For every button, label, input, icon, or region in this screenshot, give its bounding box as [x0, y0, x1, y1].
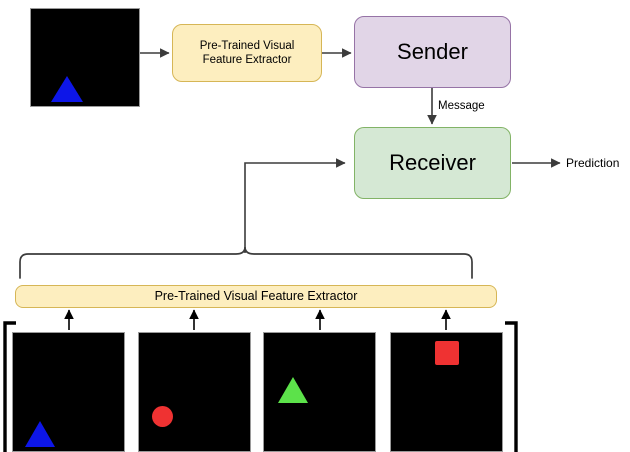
- curly-brace: [20, 247, 472, 278]
- extractor-label-line-1: Pre-Trained Visual: [200, 40, 295, 52]
- candidate-1-triangle: [25, 421, 55, 447]
- candidate-2-circle: [152, 406, 173, 427]
- sender-label: Sender: [397, 39, 468, 66]
- edge-candidates-to-receiver: [245, 163, 345, 253]
- target-image-tile[interactable]: [30, 8, 140, 107]
- message-edge-label: Message: [438, 100, 485, 112]
- candidate-image-2-tile[interactable]: [138, 332, 251, 452]
- sender-feature-extractor-label: Pre-Trained Visual Feature Extractor: [200, 39, 295, 67]
- right-bracket-icon: [505, 323, 516, 452]
- receiver-feature-extractor-label: Pre-Trained Visual Feature Extractor: [155, 289, 358, 304]
- target-image-triangle: [51, 76, 83, 102]
- candidate-image-1-tile[interactable]: [12, 332, 125, 452]
- candidate-image-3-tile[interactable]: [263, 332, 376, 452]
- receiver-box[interactable]: Receiver: [354, 127, 511, 199]
- sender-feature-extractor-box[interactable]: Pre-Trained Visual Feature Extractor: [172, 24, 322, 82]
- receiver-label: Receiver: [389, 150, 476, 177]
- candidate-3-triangle: [278, 377, 308, 403]
- receiver-feature-extractor-bar[interactable]: Pre-Trained Visual Feature Extractor: [15, 285, 497, 308]
- extractor-label-line-2: Feature Extractor: [203, 54, 292, 66]
- prediction-label-text: Prediction: [566, 156, 619, 170]
- candidate-4-square: [435, 341, 459, 365]
- sender-box[interactable]: Sender: [354, 16, 511, 88]
- message-label-text: Message: [438, 100, 485, 112]
- candidate-image-4-tile[interactable]: [390, 332, 503, 452]
- prediction-label: Prediction: [566, 156, 619, 170]
- diagram-canvas: Pre-Trained Visual Feature Extractor Sen…: [0, 0, 630, 452]
